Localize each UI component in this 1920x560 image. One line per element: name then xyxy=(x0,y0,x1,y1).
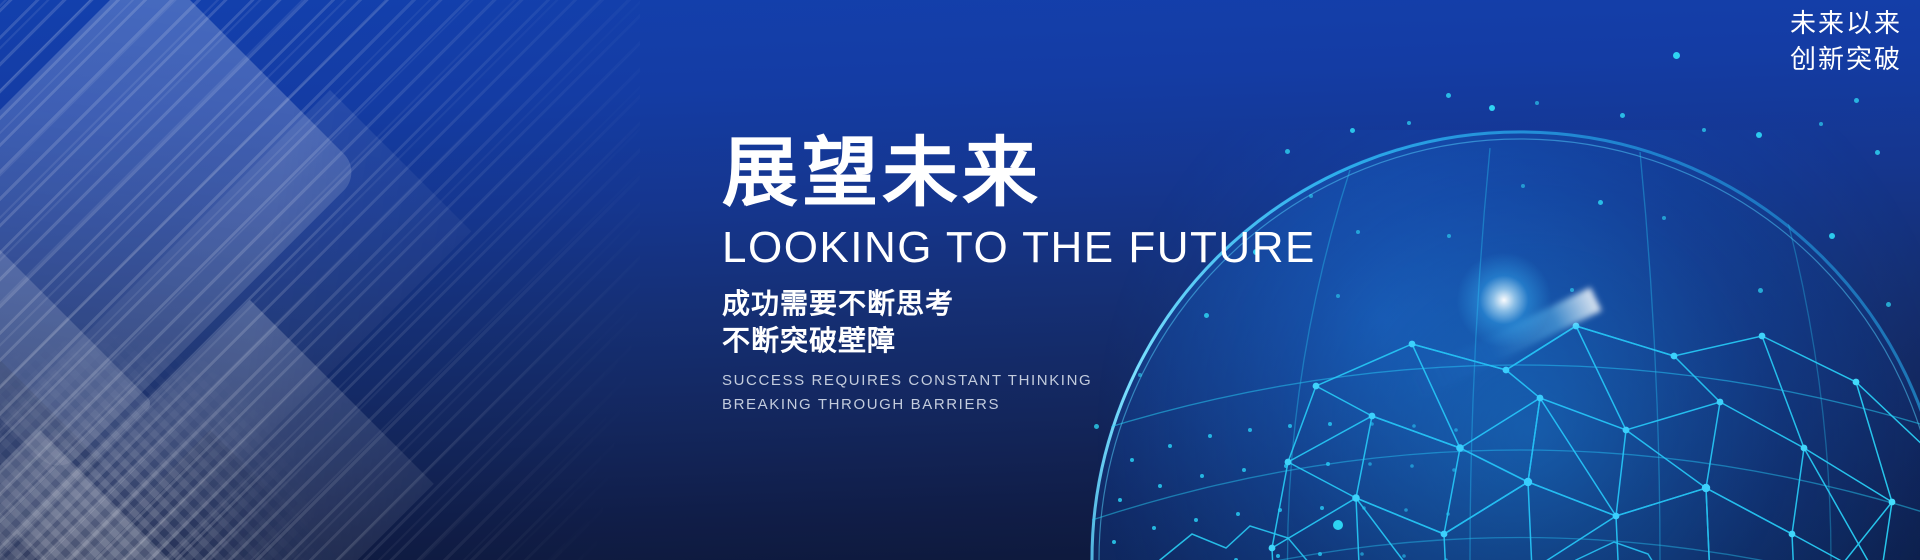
page-title: 展望未来 xyxy=(722,136,1362,212)
particle-dot xyxy=(1446,93,1451,98)
subtitle-chinese: 成功需要不断思考 不断突破壁障 xyxy=(722,286,1362,360)
corner-slogan-line-1: 未来以来 xyxy=(1790,6,1902,42)
corner-slogan: 未来以来 创新突破 xyxy=(1790,6,1902,78)
subtitle-en-line-2: BREAKING THROUGH BARRIERS xyxy=(722,393,1362,417)
subtitle-cn-line-1: 成功需要不断思考 xyxy=(722,286,1362,323)
hero-text-block: 展望未来 LOOKING TO THE FUTURE 成功需要不断思考 不断突破… xyxy=(722,136,1362,418)
subtitle-en-line-1: SUCCESS REQUIRES CONSTANT THINKING xyxy=(722,369,1362,393)
subtitle-cn-line-2: 不断突破壁障 xyxy=(722,323,1362,360)
particle-dot xyxy=(1673,52,1680,59)
decor-stripes-bold xyxy=(0,0,640,560)
promo-banner: 展望未来 LOOKING TO THE FUTURE 成功需要不断思考 不断突破… xyxy=(0,0,1920,560)
particle-dot xyxy=(1819,122,1823,126)
page-title-english: LOOKING TO THE FUTURE xyxy=(722,226,1362,270)
subtitle-english: SUCCESS REQUIRES CONSTANT THINKING BREAK… xyxy=(722,369,1362,418)
light-flare xyxy=(1456,252,1552,348)
particle-dot xyxy=(1535,101,1539,105)
particle-dot xyxy=(1620,113,1625,118)
corner-slogan-line-2: 创新突破 xyxy=(1790,42,1902,78)
particle-dot xyxy=(1854,98,1859,103)
particle-dot xyxy=(1407,121,1411,125)
diagonal-geometric-pattern xyxy=(0,0,640,560)
particle-dot xyxy=(1489,105,1495,111)
